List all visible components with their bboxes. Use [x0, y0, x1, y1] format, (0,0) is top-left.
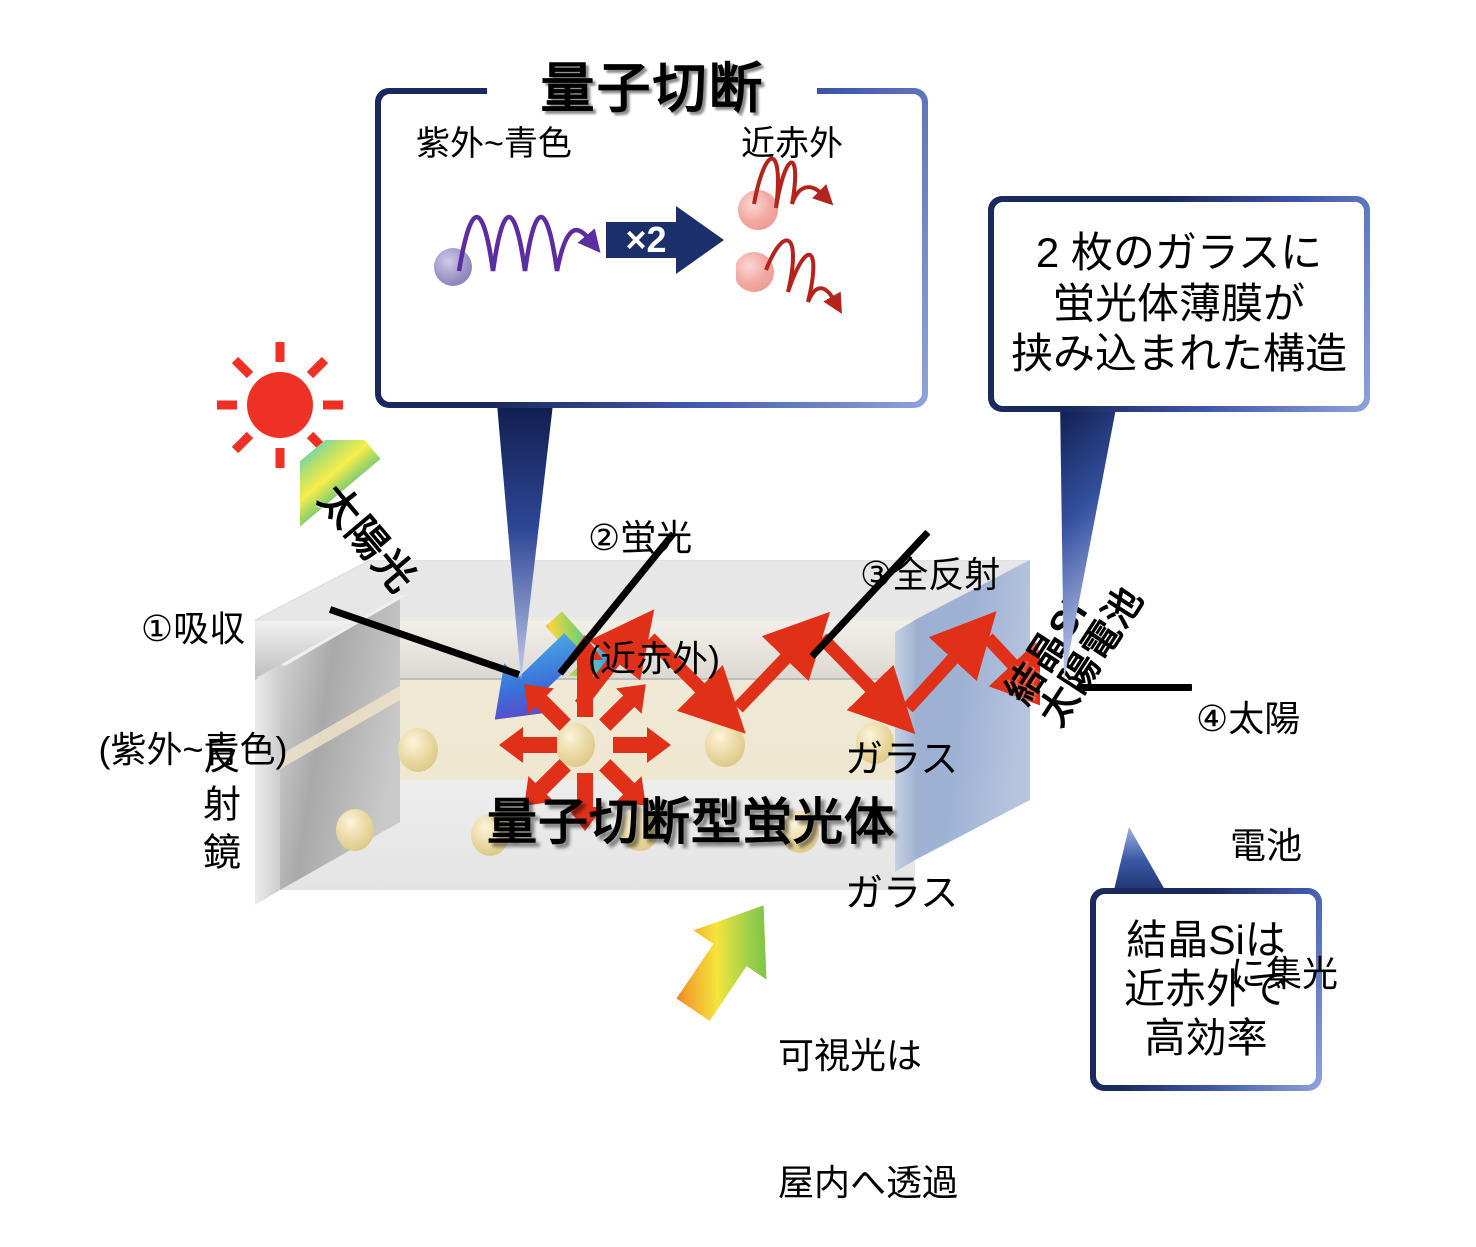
transmitted-light-label: 可視光は 屋内へ透過	[778, 950, 958, 1247]
mirror-label: 反射鏡	[196, 736, 239, 880]
step-fluoresce-line1: ②蛍光	[588, 518, 818, 558]
structure-callout: 2 枚のガラスに 蛍光体薄膜が 挟み込まれた構造	[988, 196, 1370, 412]
pointer-structure-callout	[1030, 398, 1140, 683]
step-concentrate-line2: 電池	[1230, 825, 1338, 867]
multiplier-arrow-icon: ×2	[606, 204, 726, 276]
step-absorb-label: ①吸収 (紫外~青色)	[48, 528, 338, 810]
uv-blue-label: 紫外~青色	[416, 116, 572, 165]
structure-line1: 2 枚のガラスに	[1036, 228, 1322, 278]
transmitted-line2: 屋内へ透過	[778, 1162, 958, 1204]
quantum-cutting-title: 量子切断	[500, 44, 805, 123]
step-concentrate-label: ④太陽 電池 に集光	[1196, 613, 1338, 1038]
nir-wave-icon	[736, 142, 896, 322]
nir-label: 近赤外	[741, 116, 843, 165]
structure-line3: 挟み込まれた構造	[1011, 329, 1347, 379]
step-fluoresce-line2: (近赤外)	[588, 639, 818, 679]
step-fluoresce-label: ②蛍光 (近赤外)	[588, 437, 818, 719]
transmitted-line1: 可視光は	[778, 1035, 958, 1077]
step-concentrate-line1: ④太陽	[1196, 698, 1338, 740]
multiplier-text: ×2	[625, 219, 666, 260]
step-absorb-line2: (紫外~青色)	[48, 730, 338, 770]
step-absorb-line1: ①吸収	[48, 609, 338, 649]
leader-concentrate	[1077, 684, 1192, 691]
quantum-cutting-callout: 紫外~青色 近赤外 ×2	[375, 88, 928, 408]
step-total-reflection-label: ③全反射	[860, 474, 1000, 635]
glass-top-label: ガラス	[845, 728, 958, 783]
structure-line2: 蛍光体薄膜が	[1053, 279, 1305, 329]
step-total-reflection-line1: ③全反射	[860, 555, 1000, 595]
glass-bottom-label: ガラス	[845, 862, 958, 917]
step-concentrate-line3: に集光	[1230, 953, 1338, 995]
phosphor-label: 量子切断型蛍光体	[487, 782, 895, 854]
pointer-quantum-box	[495, 404, 585, 684]
